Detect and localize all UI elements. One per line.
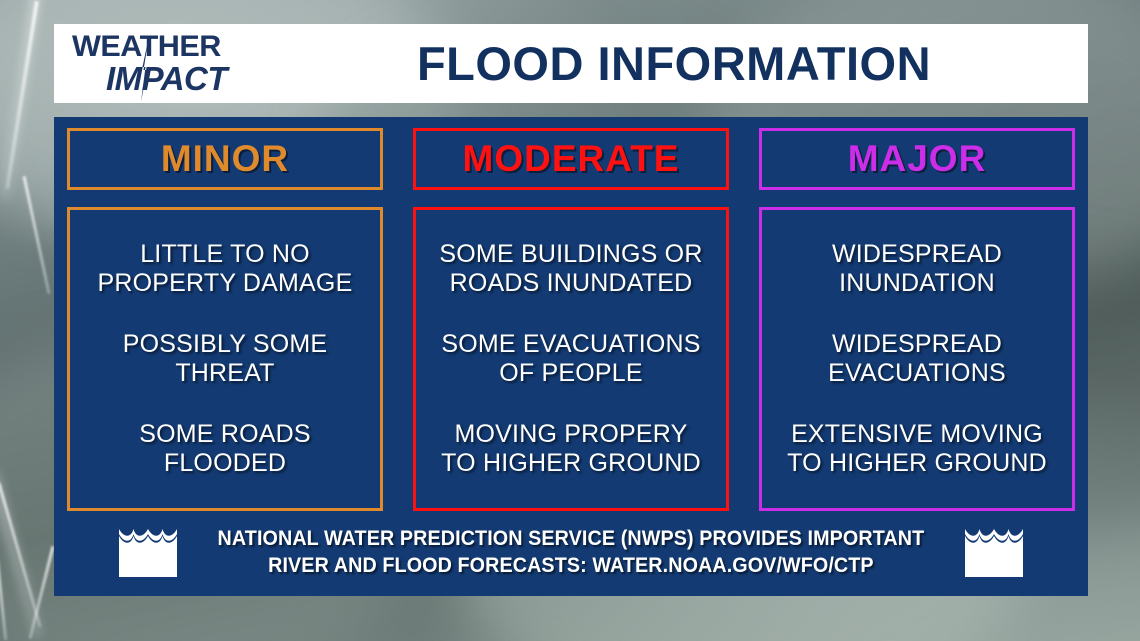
logo-line-weather: WEATHER <box>72 33 290 62</box>
header-bar: WEATHER IMPACT FLOOD INFORMATION <box>54 24 1088 103</box>
severity-columns: MINOR LITTLE TO NO PROPERTY DAMAGE POSSI… <box>67 128 1075 511</box>
logo-line-impact: IMPACT <box>106 63 286 94</box>
category-body-minor: LITTLE TO NO PROPERTY DAMAGE POSSIBLY SO… <box>67 207 383 511</box>
category-body-moderate: SOME BUILDINGS OR ROADS INUNDATED SOME E… <box>413 207 729 511</box>
impact-item: LITTLE TO NO PROPERTY DAMAGE <box>98 240 353 298</box>
severity-column-moderate: MODERATE SOME BUILDINGS OR ROADS INUNDAT… <box>413 128 729 511</box>
impact-item: MOVING PROPERY TO HIGHER GROUND <box>441 420 701 478</box>
impact-item: WIDESPREAD EVACUATIONS <box>828 330 1006 388</box>
category-header-minor: MINOR <box>67 128 383 190</box>
page-title: FLOOD INFORMATION <box>417 36 931 91</box>
title-container: FLOOD INFORMATION <box>286 36 1088 91</box>
category-header-moderate: MODERATE <box>413 128 729 190</box>
footer-message: NATIONAL WATER PREDICTION SERVICE (NWPS)… <box>218 526 925 580</box>
severity-column-major: MAJOR WIDESPREAD INUNDATION WIDESPREAD E… <box>759 128 1075 511</box>
footer-bar: NATIONAL WATER PREDICTION SERVICE (NWPS)… <box>67 511 1075 594</box>
water-waves-icon <box>119 529 177 577</box>
impact-item: SOME EVACUATIONS OF PEOPLE <box>441 330 700 388</box>
impact-item: WIDESPREAD INUNDATION <box>832 240 1002 298</box>
category-body-major: WIDESPREAD INUNDATION WIDESPREAD EVACUAT… <box>759 207 1075 511</box>
impact-item: SOME ROADS FLOODED <box>139 420 310 478</box>
impact-item: EXTENSIVE MOVING TO HIGHER GROUND <box>787 420 1047 478</box>
category-label-minor: MINOR <box>161 138 289 180</box>
weather-impact-logo: WEATHER IMPACT <box>54 24 286 103</box>
severity-column-minor: MINOR LITTLE TO NO PROPERTY DAMAGE POSSI… <box>67 128 383 511</box>
category-label-moderate: MODERATE <box>463 138 680 180</box>
main-panel: MINOR LITTLE TO NO PROPERTY DAMAGE POSSI… <box>54 117 1088 596</box>
impact-item: SOME BUILDINGS OR ROADS INUNDATED <box>439 240 702 298</box>
category-label-major: MAJOR <box>848 138 987 180</box>
impact-item: POSSIBLY SOME THREAT <box>123 330 328 388</box>
water-waves-icon <box>965 529 1023 577</box>
category-header-major: MAJOR <box>759 128 1075 190</box>
flood-information-graphic: WEATHER IMPACT FLOOD INFORMATION MINOR L… <box>54 24 1088 596</box>
